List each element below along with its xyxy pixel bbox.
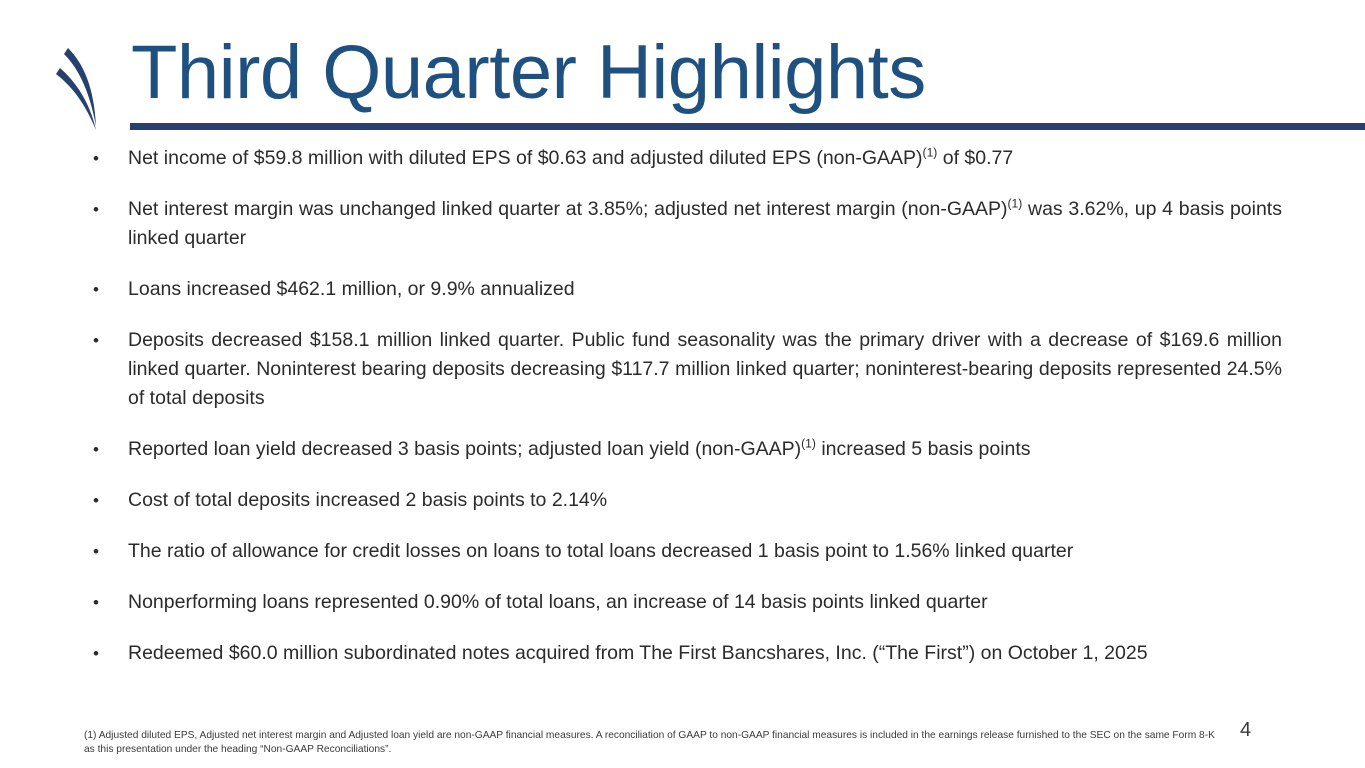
- bullet-text-run: Nonperforming loans represented 0.90% of…: [128, 591, 988, 613]
- bullet-text: Redeemed $60.0 million subordinated note…: [128, 639, 1282, 668]
- bullet-marker-icon: •: [86, 537, 128, 566]
- bullet-text: Nonperforming loans represented 0.90% of…: [128, 588, 1282, 617]
- bullet-marker-icon: •: [86, 326, 128, 355]
- bullet-item: •Deposits decreased $158.1 million linke…: [86, 326, 1282, 413]
- bullet-item: •Cost of total deposits increased 2 basi…: [86, 486, 1282, 515]
- bullet-marker-icon: •: [86, 435, 128, 464]
- bullet-text: Cost of total deposits increased 2 basis…: [128, 486, 1282, 515]
- bullet-item: •The ratio of allowance for credit losse…: [86, 537, 1282, 566]
- title-divider: [130, 123, 1365, 130]
- bullet-text-run: Redeemed $60.0 million subordinated note…: [128, 642, 1148, 664]
- bullet-text-run: Net income of $59.8 million with diluted…: [128, 147, 923, 169]
- slide-header: Third Quarter Highlights: [0, 0, 1365, 135]
- footnote-reference: (1): [923, 146, 938, 160]
- bullet-text-run: of $0.77: [937, 147, 1013, 169]
- bullet-text-run: Deposits decreased $158.1 million linked…: [128, 329, 1282, 409]
- bullet-marker-icon: •: [86, 486, 128, 515]
- bullet-marker-icon: •: [86, 144, 128, 173]
- bullet-item: •Redeemed $60.0 million subordinated not…: [86, 639, 1282, 668]
- bullet-marker-icon: •: [86, 195, 128, 224]
- bullet-text: Loans increased $462.1 million, or 9.9% …: [128, 275, 1282, 304]
- bullet-item: •Loans increased $462.1 million, or 9.9%…: [86, 275, 1282, 304]
- bullet-text-run: Net interest margin was unchanged linked…: [128, 198, 1008, 220]
- bullet-item: •Net income of $59.8 million with dilute…: [86, 144, 1282, 173]
- company-swoosh-logo: [38, 42, 134, 134]
- bullet-text-run: The ratio of allowance for credit losses…: [128, 540, 1073, 562]
- bullet-text-run: Reported loan yield decreased 3 basis po…: [128, 438, 801, 460]
- bullet-item: •Net interest margin was unchanged linke…: [86, 195, 1282, 253]
- footnote-reference: (1): [801, 437, 816, 451]
- page-title: Third Quarter Highlights: [131, 28, 926, 118]
- bullet-marker-icon: •: [86, 639, 128, 668]
- bullet-marker-icon: •: [86, 588, 128, 617]
- highlights-bullet-list: •Net income of $59.8 million with dilute…: [86, 144, 1282, 690]
- bullet-item: •Reported loan yield decreased 3 basis p…: [86, 435, 1282, 464]
- footnote-reference: (1): [1008, 197, 1023, 211]
- bullet-text: Deposits decreased $158.1 million linked…: [128, 326, 1282, 413]
- bullet-text: The ratio of allowance for credit losses…: [128, 537, 1282, 566]
- bullet-item: •Nonperforming loans represented 0.90% o…: [86, 588, 1282, 617]
- bullet-text-run: Loans increased $462.1 million, or 9.9% …: [128, 278, 575, 300]
- bullet-text-run: Cost of total deposits increased 2 basis…: [128, 489, 607, 511]
- bullet-text: Net interest margin was unchanged linked…: [128, 195, 1282, 253]
- bullet-text: Reported loan yield decreased 3 basis po…: [128, 435, 1282, 464]
- bullet-text-run: increased 5 basis points: [816, 438, 1031, 460]
- bullet-text: Net income of $59.8 million with diluted…: [128, 144, 1282, 173]
- footnote-text: (1) Adjusted diluted EPS, Adjusted net i…: [84, 729, 1224, 756]
- bullet-marker-icon: •: [86, 275, 128, 304]
- page-number: 4: [1240, 718, 1251, 742]
